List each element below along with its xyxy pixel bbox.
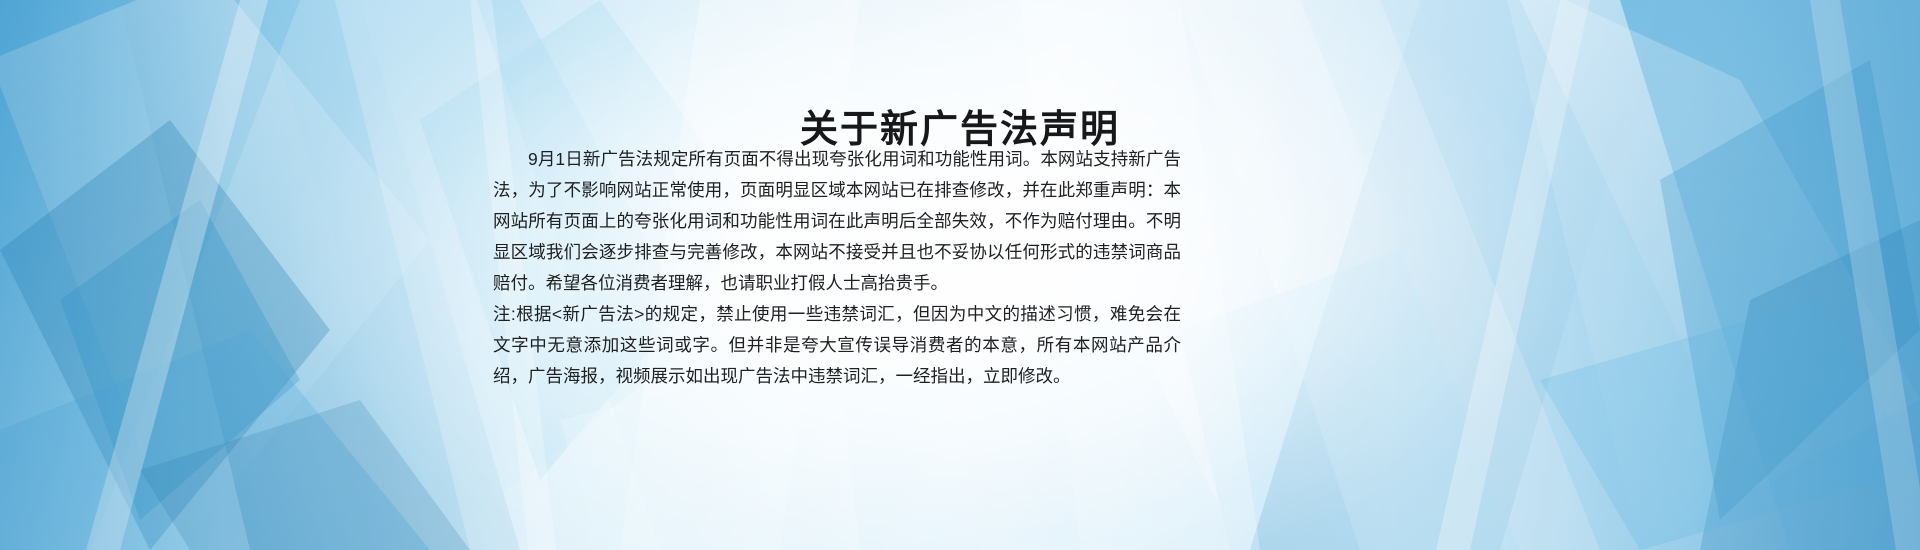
statement-paragraph-main: 9月1日新广告法规定所有页面不得出现夸张化用词和功能性用词。本网站支持新广告法，…: [493, 144, 1181, 299]
banner-content: 关于新广告法声明 9月1日新广告法规定所有页面不得出现夸张化用词和功能性用词。本…: [0, 0, 1920, 550]
ad-law-statement-banner: 关于新广告法声明 9月1日新广告法规定所有页面不得出现夸张化用词和功能性用词。本…: [0, 0, 1920, 550]
statement-body: 9月1日新广告法规定所有页面不得出现夸张化用词和功能性用词。本网站支持新广告法，…: [493, 144, 1181, 392]
statement-paragraph-note: 注:根据<新广告法>的规定，禁止使用一些违禁词汇，但因为中文的描述习惯，难免会在…: [493, 299, 1181, 392]
